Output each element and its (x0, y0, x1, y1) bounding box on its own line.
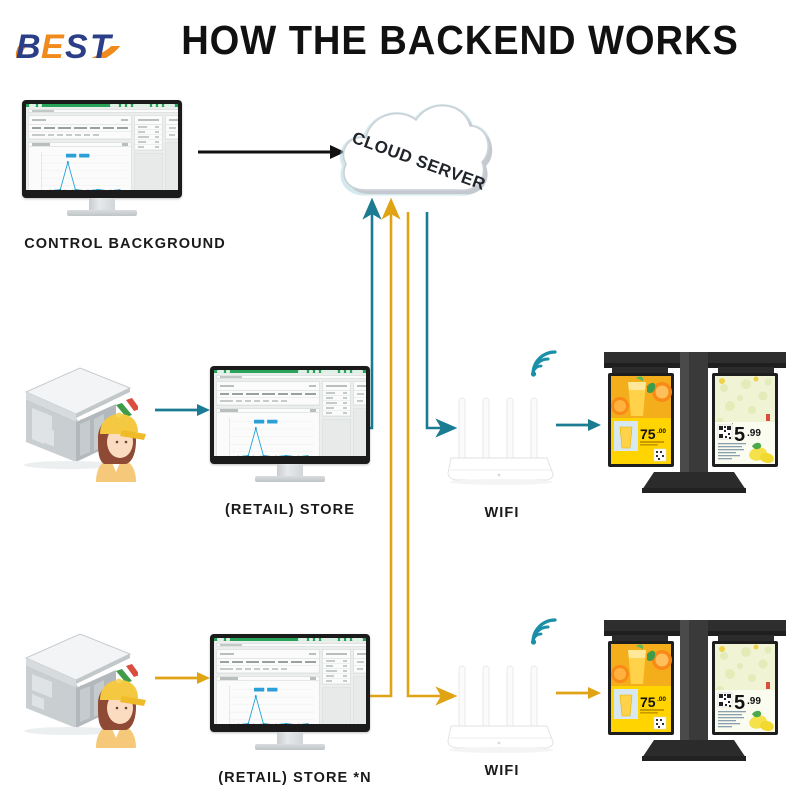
router-row2 (447, 648, 557, 758)
caption-retail-store: (RETAIL) STORE (190, 502, 390, 518)
digital-signage-row2: 75 .00 (600, 616, 790, 768)
logo-letter-b: B (16, 28, 41, 66)
dashboard-filter-panel (134, 115, 163, 151)
arrow-store-to-retail-row1 (155, 400, 211, 420)
dashboard-options-panel-retail (353, 381, 366, 406)
dashboard-screen (26, 104, 178, 190)
dashboard-line-chart-retail (217, 413, 319, 456)
svg-text:.00: .00 (657, 696, 666, 703)
dashboard-breadcrumb-retail-n (216, 643, 366, 648)
dashboard-empty-pane-retail (322, 419, 351, 456)
dashboard-filter-panel-retail (322, 381, 351, 417)
wifi-signal-icon-row2 (528, 616, 560, 646)
page-title: HOW THE BACKEND WORKS (162, 16, 757, 64)
svg-text:5: 5 (734, 692, 745, 714)
arrow-wifi-to-signage-row2 (556, 683, 602, 703)
dashboard-options-panel (165, 115, 178, 140)
caption-retail-store-n: (RETAIL) STORE *N (190, 770, 400, 786)
logo-letter-e: E (41, 28, 65, 66)
diagram-canvas: B E S T HOW THE BACKEND WORKS (0, 0, 800, 800)
svg-text:': ' (732, 423, 733, 429)
dashboard-chart-panel-retail-n (216, 676, 320, 724)
dashboard-table-panel (28, 115, 132, 140)
monitor-control-background (22, 100, 182, 212)
dashboard-screen-retail (214, 370, 366, 456)
dashboard-line-chart-retail-n (217, 681, 319, 724)
dashboard-table-panel-retail (216, 381, 320, 406)
digital-signage-row1: 75 .00 (600, 348, 790, 500)
best-logo: B E S T (8, 14, 134, 76)
dashboard-options-panel-retail-n (353, 649, 366, 674)
monitor-retail-store-n (210, 634, 370, 746)
dashboard-empty-pane-retail-2 (353, 408, 366, 456)
caption-wifi-row1: WIFI (442, 505, 562, 521)
arrow-control-to-cloud (198, 142, 346, 162)
shop-clerk-row2 (86, 676, 148, 748)
logo-letter-s: S (65, 28, 88, 66)
dashboard-empty-pane-retail-n (322, 687, 351, 724)
wifi-signal-icon-row1 (528, 348, 560, 378)
dashboard-screen-retail-n (214, 638, 366, 724)
dashboard-empty-pane-retail-n-2 (353, 676, 366, 724)
caption-control-background: CONTROL BACKGROUND (0, 236, 250, 252)
dashboard-breadcrumb-retail (216, 375, 366, 380)
svg-text:.99: .99 (747, 696, 761, 707)
dashboard-table-panel-retail-n (216, 649, 320, 674)
svg-text:.99: .99 (747, 428, 761, 439)
logo-letter-t: T (90, 28, 114, 66)
dashboard-filter-panel-retail-n (322, 649, 351, 685)
cloud-server: CLOUD SERVER (336, 92, 492, 214)
shop-clerk-row1 (86, 410, 148, 482)
svg-text:75: 75 (640, 694, 656, 710)
monitor-retail-store (210, 366, 370, 478)
dashboard-chart-panel-retail (216, 408, 320, 456)
svg-text:5: 5 (734, 424, 745, 446)
dashboard-chart-panel (28, 142, 132, 190)
router-row1 (447, 380, 557, 490)
dashboard-empty-pane-2 (165, 142, 178, 190)
dashboard-breadcrumb (28, 109, 178, 114)
svg-text:75: 75 (640, 426, 656, 442)
dashboard-empty-pane (134, 153, 163, 190)
arrow-store-to-retail-row2 (155, 668, 211, 688)
dashboard-line-chart (29, 147, 131, 190)
caption-wifi-row2: WIFI (442, 763, 562, 779)
arrow-wifi-to-signage-row1 (556, 415, 602, 435)
svg-text:.00: .00 (657, 428, 666, 435)
